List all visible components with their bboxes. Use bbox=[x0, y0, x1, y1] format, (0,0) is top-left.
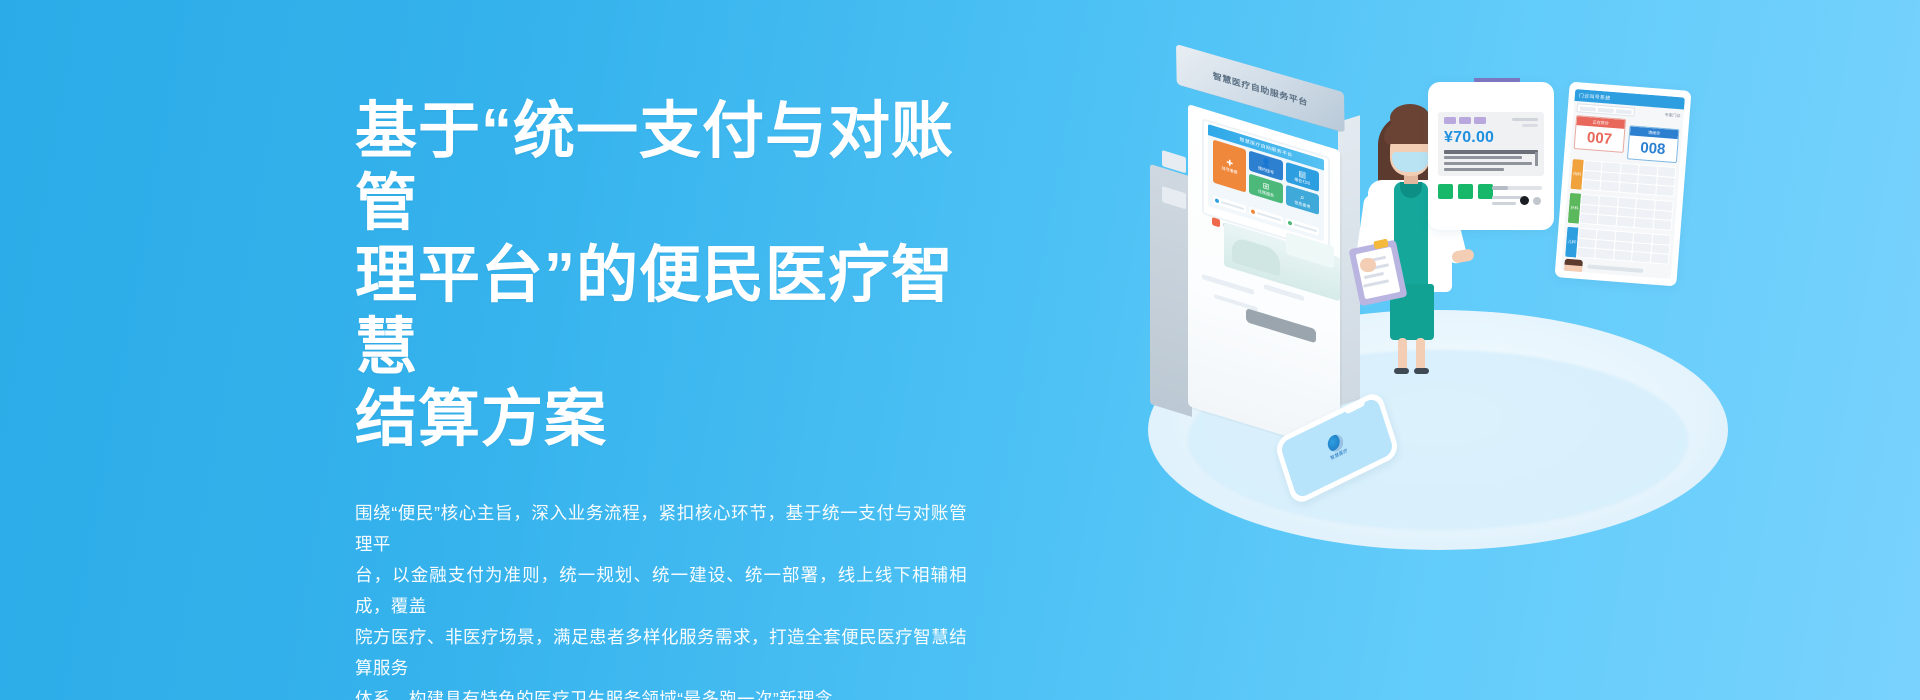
doctor-right-hand bbox=[1451, 248, 1475, 264]
queue-row-cells bbox=[1576, 228, 1671, 265]
queue-cell bbox=[1617, 217, 1635, 227]
queue-cell bbox=[1596, 240, 1614, 250]
receipt-barcode-line bbox=[1444, 162, 1532, 165]
queue-cell bbox=[1655, 201, 1673, 211]
chip-dot-icon bbox=[1251, 209, 1255, 214]
queue-cell bbox=[1656, 186, 1674, 196]
queue-cell bbox=[1578, 238, 1596, 248]
queue-board-footer-line bbox=[1587, 264, 1643, 272]
chip-line bbox=[1257, 212, 1280, 221]
hero-description-line-1: 围绕“便民”核心主旨，深入业务流程，紧扣核心环节，基于统一支付与对账管理平 bbox=[355, 498, 967, 560]
status-light bbox=[1438, 184, 1453, 199]
kiosk-tile-label: 信息查询 bbox=[1294, 199, 1310, 210]
receipt-swatch bbox=[1459, 117, 1471, 124]
page-title: 基于“统一支付与对账管 理平台”的便民医疗智慧 结算方案 bbox=[355, 96, 973, 456]
page-title-line-2: 理平台”的便民医疗智慧 bbox=[355, 240, 973, 384]
hero-description: 围绕“便民”核心主旨，深入业务流程，紧扣核心环节，基于统一支付与对账管理平 台，… bbox=[355, 498, 967, 700]
status-light bbox=[1458, 184, 1473, 199]
queue-board-note: 专家门诊 bbox=[1636, 108, 1681, 120]
queue-cell bbox=[1614, 251, 1632, 261]
hero-illustration: 智慧医疗自助服务平台 智慧医疗自助服务平台 ✚ 挂号缴费 👤 预约挂号 bbox=[1110, 20, 1750, 580]
receipt-tick-mark bbox=[1535, 152, 1538, 166]
chip-line bbox=[1294, 223, 1317, 232]
queue-calling-number: 007 bbox=[1575, 125, 1625, 152]
page-title-line-3: 结算方案 bbox=[355, 384, 973, 456]
queue-row-cells bbox=[1579, 194, 1674, 231]
queue-cell bbox=[1584, 161, 1602, 171]
kiosk-tile-registration[interactable]: ✚ 挂号缴费 bbox=[1213, 140, 1246, 193]
queue-cell bbox=[1621, 164, 1639, 174]
kiosk-tile-label: 预约挂号 bbox=[1258, 165, 1274, 176]
doctor-left-hand bbox=[1360, 258, 1376, 272]
queue-cell bbox=[1636, 199, 1654, 209]
queue-cell bbox=[1638, 185, 1656, 195]
receipt-barcode-line bbox=[1444, 156, 1522, 159]
receipt-barcode-line bbox=[1444, 168, 1504, 171]
brand-logo-icon bbox=[1212, 217, 1220, 227]
kiosk-banner-text: 智慧医疗自助服务平台 bbox=[1213, 69, 1308, 108]
queue-cell bbox=[1615, 232, 1633, 242]
kiosk-tile-label: 报告打印 bbox=[1294, 176, 1310, 187]
queue-cell bbox=[1601, 182, 1619, 192]
doctor-right-shoe bbox=[1414, 368, 1429, 374]
queue-cell bbox=[1595, 249, 1613, 259]
queue-cell bbox=[1634, 233, 1652, 243]
queue-cell bbox=[1632, 252, 1650, 262]
queue-cell bbox=[1620, 173, 1638, 183]
queue-cell bbox=[1598, 216, 1616, 226]
queue-cell bbox=[1583, 171, 1601, 181]
hero-description-line-4: 体系，构建具有特色的医疗卫生服务领域“最多跑一次”新理念。 bbox=[355, 684, 967, 700]
subheader-cell bbox=[1598, 107, 1614, 112]
chip-line bbox=[1221, 201, 1244, 210]
receipt-swatch bbox=[1474, 117, 1486, 124]
queue-cell bbox=[1653, 220, 1671, 230]
hero-copy: 基于“统一支付与对账管 理平台”的便民医疗智慧 结算方案 围绕“便民”核心主旨，… bbox=[355, 96, 973, 700]
receipt-swatches bbox=[1444, 117, 1486, 124]
payment-receipt-screen: ¥70.00 bbox=[1438, 112, 1544, 176]
queue-cell bbox=[1615, 241, 1633, 251]
queue-board-header-text: 门诊叫号系统 bbox=[1579, 92, 1611, 101]
queue-board-screen: 门诊叫号系统 专家门诊 正在就诊 007 bbox=[1561, 89, 1685, 279]
queue-board-subheader bbox=[1576, 103, 1635, 117]
queue-cell bbox=[1619, 183, 1637, 193]
queue-cell bbox=[1657, 167, 1675, 177]
queue-cell bbox=[1581, 195, 1599, 205]
queue-cell bbox=[1597, 230, 1615, 240]
page-title-line-1: 基于“统一支付与对账管 bbox=[355, 96, 973, 240]
doctor-face-mask-icon bbox=[1392, 152, 1429, 172]
doctor-left-leg bbox=[1398, 338, 1407, 372]
doctor-left-shoe bbox=[1394, 368, 1409, 374]
queue-cell bbox=[1635, 218, 1653, 228]
queue-cell bbox=[1652, 234, 1670, 244]
queue-cell bbox=[1580, 214, 1598, 224]
chip-dot-icon bbox=[1288, 220, 1292, 225]
queue-waiting-label: 请候诊 bbox=[1648, 129, 1660, 136]
hero-banner: 基于“统一支付与对账管 理平台”的便民医疗智慧 结算方案 围绕“便民”核心主旨，… bbox=[0, 0, 1920, 700]
queue-waiting-number: 008 bbox=[1628, 135, 1678, 162]
hero-description-line-2: 台，以金融支付为准则，统一规划、统一建设、统一部署，线上线下相辅相成，覆盖 bbox=[355, 560, 967, 622]
terminal-button-primary[interactable] bbox=[1520, 196, 1529, 205]
queue-calling-label: 正在就诊 bbox=[1593, 119, 1609, 126]
status-light bbox=[1478, 184, 1493, 199]
subheader-cell bbox=[1580, 106, 1596, 111]
queue-cell bbox=[1602, 162, 1620, 172]
queue-cell bbox=[1581, 204, 1599, 214]
queue-cell bbox=[1633, 243, 1651, 253]
terminal-status-lights bbox=[1438, 184, 1493, 199]
queue-cell bbox=[1636, 209, 1654, 219]
receipt-hint-line bbox=[1512, 118, 1538, 121]
hero-description-line-3: 院方医疗、非医疗场景，满足患者多样化服务需求，打造全套便民医疗智慧结算服务 bbox=[355, 622, 967, 684]
queue-cell bbox=[1654, 210, 1672, 220]
queue-calling-panel: 正在就诊 007 bbox=[1574, 115, 1627, 153]
queue-cell bbox=[1600, 196, 1618, 206]
receipt-barcode-line bbox=[1444, 150, 1538, 154]
queue-row-internal-medicine: 内科 bbox=[1570, 159, 1676, 197]
queue-waiting-panel: 请候诊 008 bbox=[1627, 125, 1680, 163]
queue-cell bbox=[1639, 165, 1657, 175]
chip-dot-icon bbox=[1215, 198, 1219, 203]
queue-cell bbox=[1638, 175, 1656, 185]
queue-cell bbox=[1582, 180, 1600, 190]
receipt-swatch bbox=[1444, 117, 1456, 124]
queue-cell bbox=[1617, 207, 1635, 217]
queue-cell bbox=[1657, 176, 1675, 186]
kiosk-tile-label: 挂号缴费 bbox=[1222, 165, 1238, 176]
queue-board-note-text: 专家门诊 bbox=[1664, 112, 1680, 119]
queue-cell bbox=[1599, 206, 1617, 216]
doctor-hair-bun bbox=[1390, 104, 1430, 132]
queue-cell bbox=[1651, 244, 1669, 254]
receipt-hint-line bbox=[1522, 124, 1538, 127]
terminal-button-secondary[interactable] bbox=[1533, 197, 1541, 205]
queue-cell bbox=[1618, 198, 1636, 208]
queue-board-avatar-hair bbox=[1564, 259, 1582, 266]
phone-app-logo: 智慧医疗 bbox=[1324, 431, 1348, 461]
subheader-cell bbox=[1616, 109, 1632, 114]
queue-cell bbox=[1602, 172, 1620, 182]
queue-row-cells bbox=[1581, 160, 1676, 197]
kiosk-tile-label: 住院服务 bbox=[1258, 188, 1274, 199]
queue-display-board: 门诊叫号系统 专家门诊 正在就诊 007 bbox=[1554, 82, 1691, 287]
terminal-slider-fill bbox=[1492, 186, 1508, 190]
queue-cell bbox=[1579, 229, 1597, 239]
doctor-right-leg bbox=[1416, 338, 1425, 372]
queue-row-surgery: 外科 bbox=[1568, 193, 1674, 231]
terminal-label-line bbox=[1492, 202, 1516, 205]
payment-amount: ¥70.00 bbox=[1444, 129, 1494, 147]
queue-cell bbox=[1577, 248, 1595, 258]
queue-cell bbox=[1651, 254, 1669, 264]
